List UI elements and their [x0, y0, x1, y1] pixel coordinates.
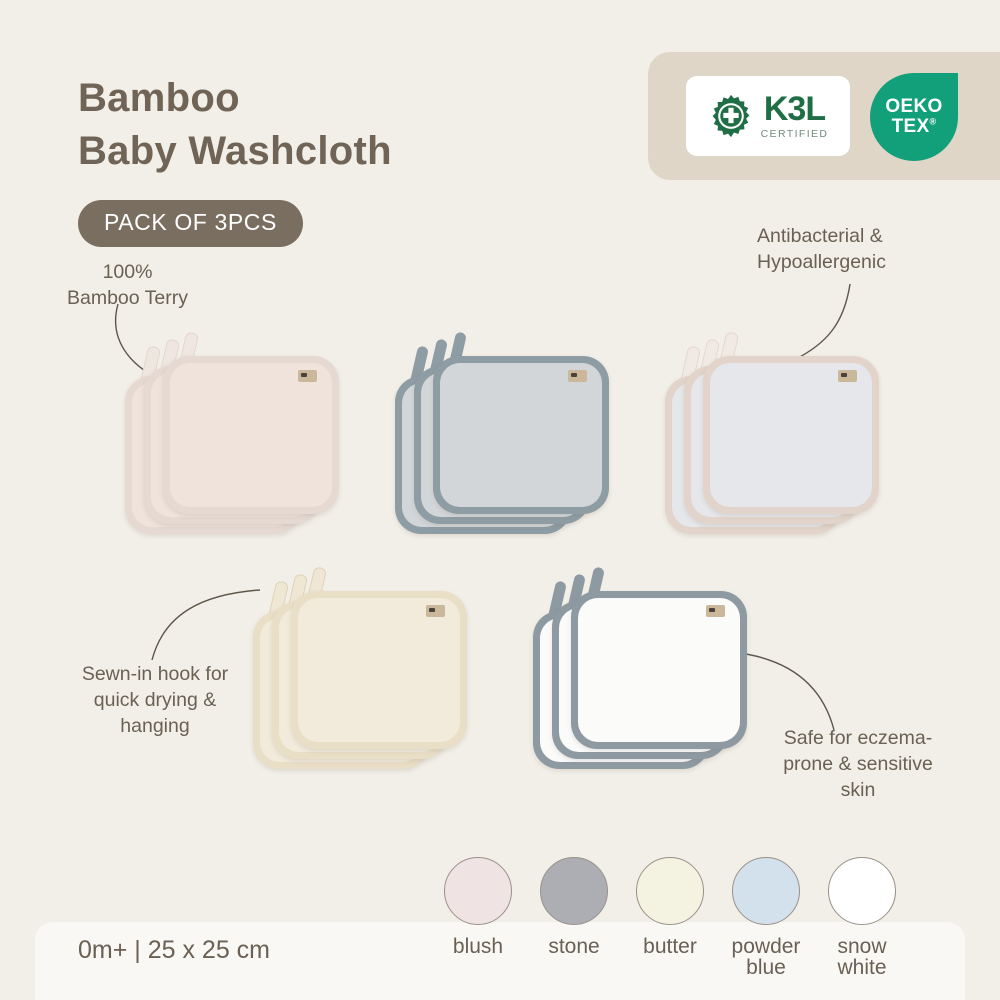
swatch-label-line-1: blush: [453, 935, 503, 958]
pack-badge: PACK OF 3PCS: [78, 200, 303, 247]
washcloth-stack-butter: [253, 565, 483, 770]
swatch-label-line-1: butter: [643, 935, 697, 958]
color-swatch-blush[interactable]: blush: [430, 857, 526, 987]
swatch-label-line-1: stone: [548, 935, 599, 958]
swatch-dot: [444, 857, 512, 925]
swatch-dot: [828, 857, 896, 925]
gear-plus-icon: [708, 93, 754, 139]
callout-eczema-line-2: prone & sensitive: [758, 752, 958, 778]
callout-eczema-line-1: Safe for eczema-: [758, 726, 958, 752]
callout-bamboo-terry: 100% Bamboo Terry: [40, 260, 215, 312]
k3l-certified-label: CERTIFIED: [761, 129, 829, 140]
title-line-2: Baby Washcloth: [78, 125, 392, 178]
callout-eczema-safe: Safe for eczema- prone & sensitive skin: [758, 726, 958, 804]
color-swatch-powder-blue[interactable]: powder blue: [718, 857, 814, 987]
oeko-tex-badge: OEKO TEX®: [870, 73, 958, 161]
swatch-label-line-1: powder: [732, 935, 801, 958]
page-title: Bamboo Baby Washcloth: [78, 72, 392, 178]
brand-tag: [298, 370, 317, 382]
color-swatch-snow-white[interactable]: snow white: [814, 857, 910, 987]
callout-hook-line-3: hanging: [50, 714, 260, 740]
swatch-label-line-1: snow: [837, 935, 886, 958]
washcloth-stack-blush: [125, 330, 355, 535]
registered-mark-icon: ®: [929, 117, 936, 127]
washcloth-stack-stone: [395, 330, 625, 535]
brand-tag: [838, 370, 857, 382]
certification-panel: K3L CERTIFIED OEKO TEX®: [648, 52, 1000, 180]
callout-bamboo-terry-line-1: 100%: [40, 260, 215, 286]
brand-tag: [568, 370, 587, 382]
swatch-dot: [636, 857, 704, 925]
washcloth-item: [703, 356, 879, 514]
oeko-line-2: TEX: [892, 116, 930, 137]
callout-antibacterial-line-1: Antibacterial &: [757, 224, 957, 250]
color-swatch-row: blush stone butter powder blue snow whit…: [430, 857, 960, 987]
washcloth-item: [291, 591, 467, 749]
k3l-label: K3L: [764, 92, 825, 126]
washcloth-stack-snow-white: [533, 565, 763, 770]
callout-eczema-line-3: skin: [758, 778, 958, 804]
callout-hook-line-2: quick drying &: [50, 688, 260, 714]
swatch-dot: [732, 857, 800, 925]
swatch-label-line-2: white: [837, 957, 886, 978]
callout-antibacterial: Antibacterial & Hypoallergenic: [757, 224, 957, 276]
oeko-line-1: OEKO: [885, 97, 942, 117]
brand-tag: [706, 605, 725, 617]
color-swatch-stone[interactable]: stone: [526, 857, 622, 987]
callout-hook-line-1: Sewn-in hook for: [50, 662, 260, 688]
product-infographic: Bamboo Baby Washcloth PACK OF 3PCS K3L C…: [0, 0, 1000, 1000]
callout-bamboo-terry-line-2: Bamboo Terry: [40, 286, 215, 312]
brand-tag: [426, 605, 445, 617]
washcloth-item: [571, 591, 747, 749]
washcloth-item: [163, 356, 339, 514]
washcloth-stack-powder-blue: [665, 330, 895, 535]
size-spec-text: 0m+ | 25 x 25 cm: [78, 936, 270, 965]
k3l-certified-badge: K3L CERTIFIED: [686, 76, 850, 156]
color-swatch-butter[interactable]: butter: [622, 857, 718, 987]
swatch-label-line-2: blue: [732, 957, 801, 978]
washcloth-item: [433, 356, 609, 514]
swatch-dot: [540, 857, 608, 925]
title-line-1: Bamboo: [78, 76, 240, 120]
callout-sewn-in-hook: Sewn-in hook for quick drying & hanging: [50, 662, 260, 740]
callout-antibacterial-line-2: Hypoallergenic: [757, 250, 957, 276]
